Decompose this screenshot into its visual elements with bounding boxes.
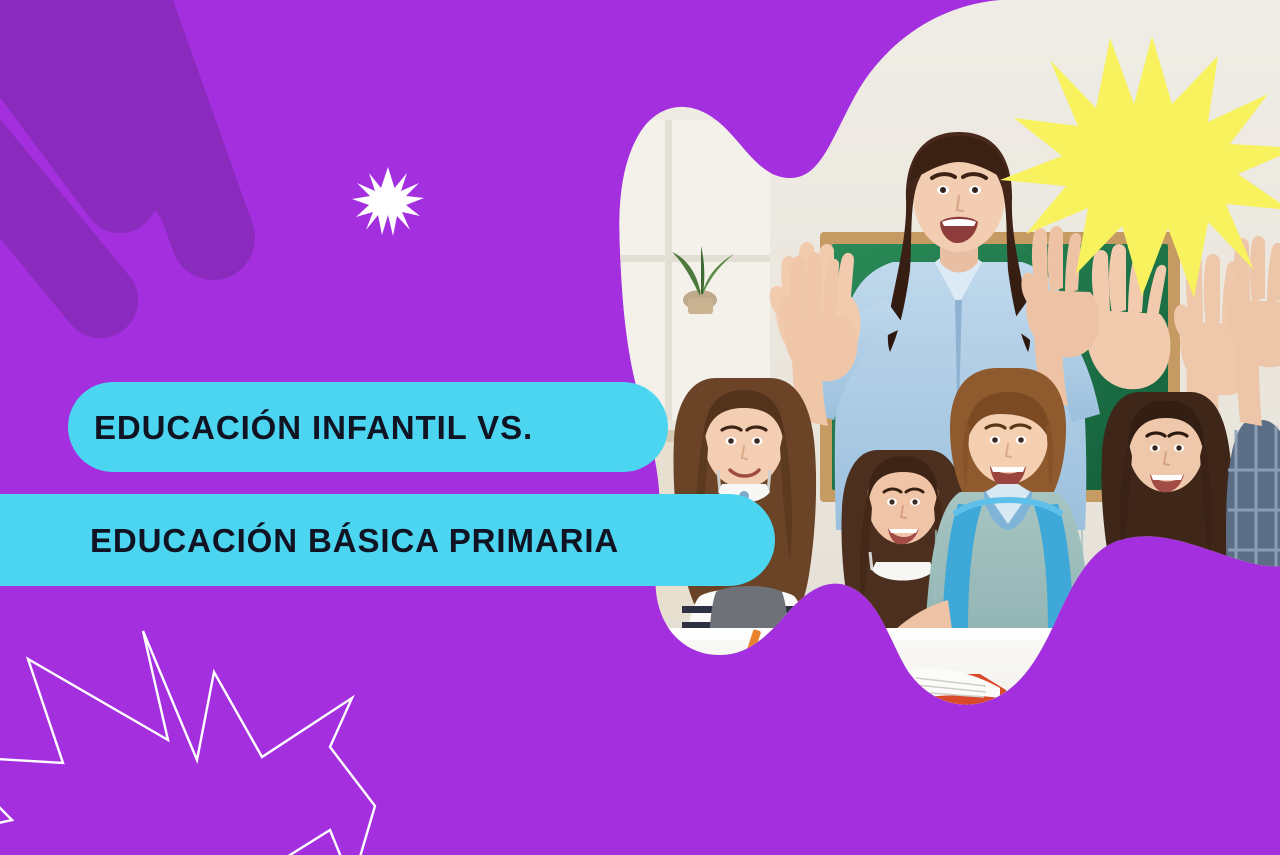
title-line-2: EDUCACIÓN BÁSICA PRIMARIA — [90, 524, 619, 557]
title-banner-line-1: EDUCACIÓN INFANTIL VS. — [68, 382, 668, 472]
title-line-1: EDUCACIÓN INFANTIL VS. — [94, 411, 533, 444]
title-banner-line-2: EDUCACIÓN BÁSICA PRIMARIA — [0, 494, 775, 586]
banner-canvas: EDUCACIÓN INFANTIL VS. EDUCACIÓN BÁSICA … — [0, 0, 1280, 855]
